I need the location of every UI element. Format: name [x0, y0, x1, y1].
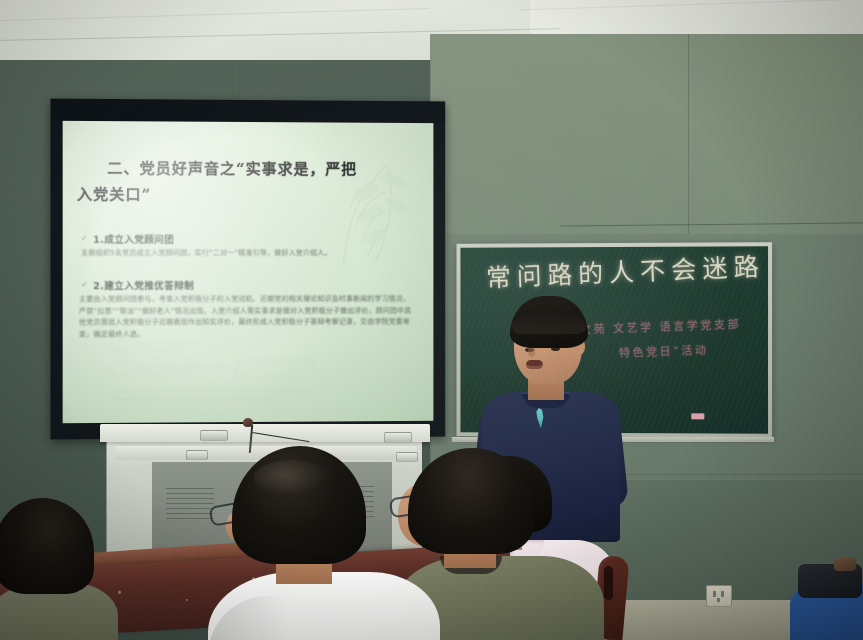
power-outlet[interactable] [706, 585, 732, 607]
classroom-photograph: 二、党员好声音之“实事求是，严把 入党关口” ✓ 1.成立入党顾问团 支部组织5… [0, 0, 863, 640]
slide-surface: 二、党员好声音之“实事求是，严把 入党关口” ✓ 1.成立入党顾问团 支部组织5… [63, 121, 434, 423]
presenter-fringe [512, 312, 586, 334]
slide-section-body-1: 支部组织5名党员成立入党顾问团，实行“二对一”精准引导，做好入党介绍人。 [81, 248, 411, 260]
check-icon: ✓ [81, 280, 88, 289]
lectern-hinge [384, 432, 412, 443]
microphone-icon[interactable] [243, 418, 253, 427]
student-white-shirt [190, 446, 450, 640]
slide-footer-graphic [111, 332, 321, 411]
backpack-strap [834, 558, 856, 571]
student-hair [0, 498, 94, 594]
slide-title-line-2: 入党关口” [77, 183, 151, 204]
slide-title-line-1: 二、党员好声音之“实事求是，严把 [107, 157, 357, 179]
slide-section-heading-2: 2.建立入党推优答辩制 [93, 278, 194, 292]
blackboard-main-text: 常问路的人不会迷路 [485, 247, 765, 295]
slide-section-heading-1: 1.成立入党顾问团 [93, 232, 174, 246]
check-icon: ✓ [81, 234, 88, 243]
leaf-watermark-icon [292, 158, 421, 308]
projection-screen: 二、党员好声音之“实事求是，严把 入党关口” ✓ 1.成立入党顾问团 支部组织5… [50, 99, 445, 440]
lectern-top [100, 424, 430, 442]
wall-seam [688, 34, 689, 234]
screen-bezel [50, 99, 445, 124]
chalk-piece [691, 413, 704, 419]
presenter-mouth [526, 360, 543, 369]
student-left-edge [0, 498, 114, 640]
person-right-edge [790, 556, 863, 640]
right-wall-upper [430, 34, 863, 234]
hair-highlight [254, 460, 328, 496]
lectern-hinge [200, 430, 228, 441]
